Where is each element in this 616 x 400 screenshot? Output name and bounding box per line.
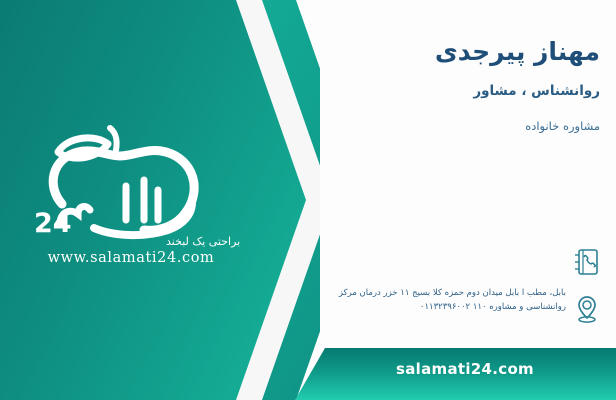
business-card: 24 براحتی یک لبخند www.salamati24.com مه… [0, 0, 616, 400]
logo-website-url[interactable]: www.salamati24.com [16, 250, 246, 266]
brand-logo: 24 براحتی یک لبخند www.salamati24.com [16, 120, 246, 275]
logo-tagline: براحتی یک لبخند [166, 235, 240, 248]
map-pin-icon[interactable] [570, 294, 604, 328]
address-line-2: روانشناسی و مشاوره ۱۱۰ ۰۱۱۳۲۳۹۶۰۰۲ [270, 300, 566, 314]
profile-info: مهناز پیرجدی روانشناس ، مشاور مشاوره خان… [200, 36, 600, 133]
footer-website[interactable]: salamati24.com [330, 360, 600, 378]
profile-name: مهناز پیرجدی [200, 36, 600, 67]
logo-number: 24 [34, 208, 72, 239]
profile-speciality: مشاوره خانواده [200, 119, 600, 133]
contact-icon-column [570, 248, 604, 328]
salamati-apple-icon: 24 براحتی یک لبخند [16, 120, 246, 250]
address-line-1: بابل، مطب ا بابل میدان دوم حمزه کلا بسیج… [270, 286, 566, 300]
address-column: بابل، مطب ا بابل میدان دوم حمزه کلا بسیج… [270, 286, 566, 315]
profile-role: روانشناس ، مشاور [200, 83, 600, 99]
phone-book-icon[interactable] [570, 248, 604, 280]
